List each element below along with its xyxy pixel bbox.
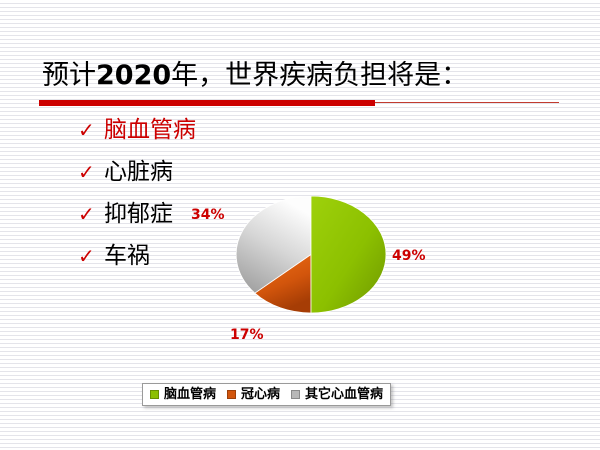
page-title-text: 预计2020年，世界疾病负担将是： [42,58,562,94]
title-underline-thick [39,100,375,106]
list-item-label: 抑郁症 [104,202,173,227]
list-item-label: 车祸 [104,244,150,269]
list-item-label: 脑血管病 [104,118,196,143]
chart-legend: 脑血管病 冠心病 其它心血管病 [142,383,391,406]
pie-chart-graphic [236,196,386,313]
legend-label: 脑血管病 [164,388,216,401]
check-icon: ✓ [78,120,104,140]
legend-label: 冠心病 [241,388,280,401]
pie-value-label-coronary: 17% [230,327,264,343]
pie-value-label-cerebrovascular: 49% [392,248,426,264]
pie-chart: 34% 49% 17% [180,190,480,330]
list-item-label: 心脏病 [104,160,173,185]
check-icon: ✓ [78,246,104,266]
legend-label: 其它心血管病 [305,388,383,401]
list-item: ✓ 脑血管病 [78,118,278,160]
legend-item-other: 其它心血管病 [291,388,383,401]
legend-swatch-gray [291,390,300,399]
legend-swatch-orange [227,390,236,399]
legend-swatch-green [150,390,159,399]
page-title-suffix: 年，世界疾病负担将是： [171,60,468,91]
check-icon: ✓ [78,162,104,182]
page-title-prefix: 预计 [42,60,96,91]
slide-canvas: 预计2020年，世界疾病负担将是： ✓ 脑血管病 ✓ 心脏病 ✓ 抑郁症 ✓ 车… [0,0,600,450]
page-title: 预计2020年，世界疾病负担将是： [42,58,562,94]
check-icon: ✓ [78,204,104,224]
legend-item-coronary: 冠心病 [227,388,280,401]
page-title-year: 2020 [96,60,171,91]
pie-slice-cerebrovascular [311,196,386,313]
pie-value-label-other: 34% [191,207,225,223]
legend-item-cerebrovascular: 脑血管病 [150,388,216,401]
